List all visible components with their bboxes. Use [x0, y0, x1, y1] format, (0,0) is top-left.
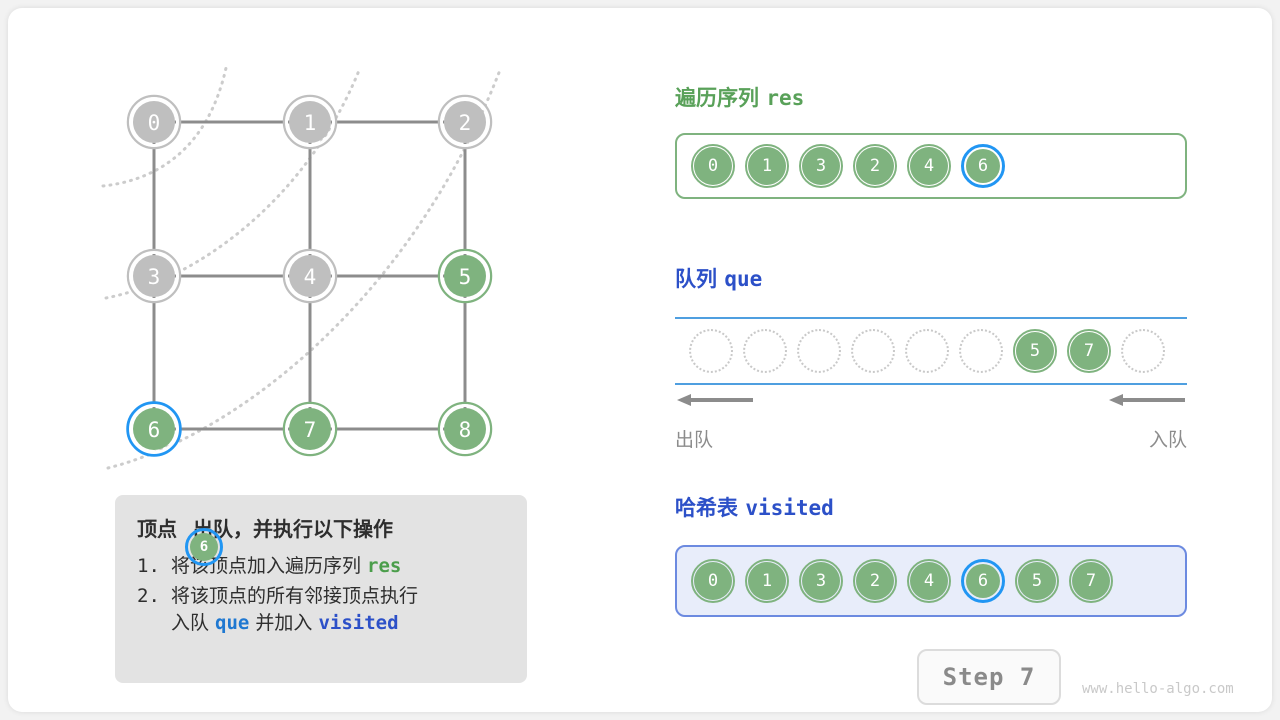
- graph-node-2[interactable]: 2: [439, 96, 491, 148]
- content-card: 012345678 顶点 6 出队，并执行以下操作 1.将该顶点加入遍历序列 r…: [8, 8, 1272, 712]
- res-chip: 1: [745, 144, 789, 188]
- que-chip: 5: [1013, 329, 1057, 373]
- enqueue-group: 入队: [1107, 391, 1187, 452]
- que-title-cn: 队列: [675, 267, 717, 291]
- caption-code-run: visited: [318, 612, 398, 634]
- graph-node-7[interactable]: 7: [284, 403, 336, 455]
- enqueue-label: 入队: [1107, 425, 1187, 452]
- value-chip-ring: [907, 559, 951, 603]
- que-empty-slot: [959, 329, 1003, 373]
- graph-node-label: 2: [459, 111, 472, 135]
- visited-chip: 6: [961, 559, 1005, 603]
- graph-node-label: 1: [304, 111, 317, 135]
- graph-node-4[interactable]: 4: [284, 250, 336, 302]
- graph-node-8[interactable]: 8: [439, 403, 491, 455]
- caption-vertex-chip-ring: [185, 528, 223, 566]
- screenshot-canvas: 012345678 顶点 6 出队，并执行以下操作 1.将该顶点加入遍历序列 r…: [0, 0, 1280, 720]
- value-chip-ring: [691, 144, 735, 188]
- value-chip-ring: [853, 144, 897, 188]
- caption-text-run: 入队: [171, 612, 215, 634]
- caption-code-run: res: [367, 555, 401, 577]
- visited-title-cn: 哈希表: [675, 496, 738, 520]
- graph-node-label: 7: [304, 418, 317, 442]
- value-chip-ring: [905, 329, 949, 373]
- visited-title-code: visited: [745, 496, 834, 520]
- step-badge: Step 7: [917, 649, 1061, 705]
- value-chip-ring: [799, 559, 843, 603]
- graph-node-5[interactable]: 5: [439, 250, 491, 302]
- value-chip-ring: [853, 559, 897, 603]
- caption-step-item: 2.将该顶点的所有邻接顶点执行入队 que 并加入 visited: [137, 583, 507, 638]
- graph-node-6[interactable]: 6: [128, 403, 180, 455]
- graph-diagram: 012345678: [8, 8, 628, 508]
- visited-chip: 2: [853, 559, 897, 603]
- caption-head-suffix: 出队，并执行以下操作: [193, 513, 393, 542]
- que-empty-slot: [851, 329, 895, 373]
- que-chip: 7: [1067, 329, 1111, 373]
- res-container: 013246: [675, 133, 1187, 199]
- caption-box: 顶点 6 出队，并执行以下操作 1.将该顶点加入遍历序列 res2.将该顶点的所…: [115, 495, 527, 683]
- res-chip: 4: [907, 144, 951, 188]
- caption-steps-list: 1.将该顶点加入遍历序列 res2.将该顶点的所有邻接顶点执行入队 que 并加…: [137, 553, 507, 638]
- enqueue-arrow-icon: [1107, 391, 1187, 409]
- caption-step-number: 1.: [137, 553, 171, 581]
- que-empty-slot: [743, 329, 787, 373]
- que-title: 队列 que: [675, 263, 762, 293]
- caption-step-text: 将该顶点的所有邻接顶点执行入队 que 并加入 visited: [171, 583, 507, 638]
- que-empty-slot: [1121, 329, 1165, 373]
- caption-step-text: 将该顶点加入遍历序列 res: [171, 553, 507, 581]
- graph-node-label: 8: [459, 418, 472, 442]
- caption-text-run: 将该顶点的所有邻接顶点执行: [171, 585, 418, 607]
- que-slot-row: 57: [689, 319, 1175, 383]
- que-container: 57: [675, 317, 1187, 385]
- value-chip-ring: [1015, 559, 1059, 603]
- graph-node-label: 6: [148, 418, 161, 442]
- visited-container: 01324657: [675, 545, 1187, 617]
- graph-node-label: 3: [148, 265, 161, 289]
- value-chip-ring: [799, 144, 843, 188]
- graph-node-0[interactable]: 0: [128, 96, 180, 148]
- visited-chip: 5: [1015, 559, 1059, 603]
- caption-code-run: que: [215, 612, 249, 634]
- visited-chip: 7: [1069, 559, 1113, 603]
- value-chip-ring: [959, 329, 1003, 373]
- que-empty-slot: [689, 329, 733, 373]
- graph-node-1[interactable]: 1: [284, 96, 336, 148]
- value-chip-ring: [961, 144, 1005, 188]
- res-chip-row: 013246: [691, 135, 1015, 197]
- visited-chip-row: 01324657: [691, 547, 1123, 615]
- value-chip-ring: [691, 559, 735, 603]
- value-chip-ring: [907, 144, 951, 188]
- dequeue-arrow-icon: [675, 391, 755, 409]
- res-chip: 6: [961, 144, 1005, 188]
- dequeue-group: 出队: [675, 391, 755, 452]
- caption-headline: 顶点 6 出队，并执行以下操作: [137, 513, 507, 542]
- graph-node-label: 4: [304, 265, 317, 289]
- value-chip-ring: [797, 329, 841, 373]
- value-chip-ring: [689, 329, 733, 373]
- visited-chip: 4: [907, 559, 951, 603]
- visited-title: 哈希表 visited: [675, 492, 834, 522]
- graph-node-3[interactable]: 3: [128, 250, 180, 302]
- que-empty-slot: [797, 329, 841, 373]
- caption-text-run: 并加入: [249, 612, 318, 634]
- res-chip: 3: [799, 144, 843, 188]
- graph-node-label: 0: [148, 111, 161, 135]
- caption-step-number: 2.: [137, 583, 171, 638]
- que-empty-slot: [905, 329, 949, 373]
- value-chip-ring: [1121, 329, 1165, 373]
- res-chip: 2: [853, 144, 897, 188]
- value-chip-ring: [743, 329, 787, 373]
- value-chip-ring: [1013, 329, 1057, 373]
- res-chip: 0: [691, 144, 735, 188]
- visited-chip: 3: [799, 559, 843, 603]
- res-title: 遍历序列 res: [675, 82, 804, 112]
- visited-chip: 1: [745, 559, 789, 603]
- value-chip-ring: [745, 559, 789, 603]
- value-chip-ring: [1069, 559, 1113, 603]
- que-direction-arrows: 出队 入队: [675, 391, 1187, 449]
- watermark: www.hello-algo.com: [1082, 681, 1234, 697]
- que-title-code: que: [724, 267, 762, 291]
- value-chip-ring: [745, 144, 789, 188]
- dequeue-label: 出队: [675, 425, 755, 452]
- caption-head-prefix: 顶点: [137, 513, 177, 542]
- graph-node-label: 5: [459, 265, 472, 289]
- value-chip-ring: [1067, 329, 1111, 373]
- value-chip-ring: [851, 329, 895, 373]
- res-title-code: res: [766, 86, 804, 110]
- value-chip-ring: [961, 559, 1005, 603]
- visited-chip: 0: [691, 559, 735, 603]
- res-title-cn: 遍历序列: [675, 86, 759, 110]
